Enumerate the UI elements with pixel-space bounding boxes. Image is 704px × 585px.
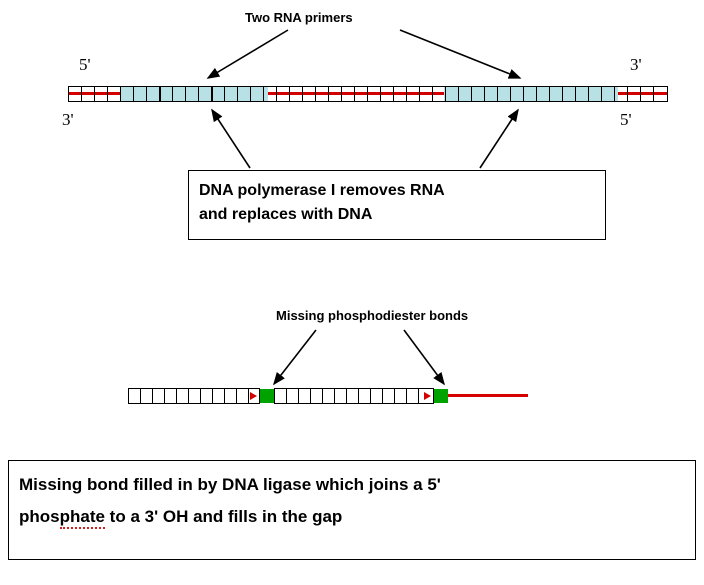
green-bond-gap-1 [260,389,274,403]
nucleotide-tick [382,388,383,404]
red-arrow-icon [424,392,431,400]
nucleotide-tick [276,86,277,102]
nucleotide-tick [302,86,303,102]
dna-polymerase-callout: DNA polymerase I removes RNA and replace… [188,170,606,240]
nucleotide-tick [418,388,419,404]
arrow-to-rna-primer-2 [400,30,520,78]
nucleotide-tick [367,86,368,102]
nucleotide-tick [164,388,165,404]
nucleotide-tick [140,388,141,404]
nucleotide-tick [185,86,186,102]
nucleotide-tick [549,86,550,102]
ligase-line-2-spellcheck: phate [60,507,105,529]
bottom-right-5prime-label: 5' [620,110,632,130]
nucleotide-tick [341,86,342,102]
nucleotide-tick [298,388,299,404]
nucleotide-tick [248,388,249,404]
nucleotide-tick [120,86,121,102]
nucleotide-tick [159,86,161,102]
nucleotide-tick [523,86,524,102]
nucleotide-tick [200,388,201,404]
nucleotide-tick [640,86,641,102]
bottom-left-3prime-label: 3' [62,110,74,130]
segment-red-dna-right [448,394,528,397]
nucleotide-tick [146,86,147,102]
strand-outline [68,86,668,102]
nucleotide-tick [380,86,381,102]
nucleotide-tick [432,86,433,102]
callout-line-2: and replaces with DNA [199,203,595,227]
ligase-line-2-prefix: phos [19,507,60,526]
segment-outline [128,388,260,404]
arrow-to-bond-gap-1 [274,330,316,384]
nucleotide-tick [328,86,329,102]
nucleotide-tick [188,388,189,404]
nucleotide-tick [176,388,177,404]
nucleotide-tick [263,86,264,102]
nucleotide-tick [310,388,311,404]
arrow-to-bond-gap-2 [404,330,444,384]
nucleotide-tick [224,86,225,102]
nucleotide-tick [588,86,589,102]
ligase-line-1: Missing bond filled in by DNA ligase whi… [19,469,685,501]
nucleotide-tick [286,388,287,404]
nucleotide-tick [224,388,225,404]
arrow-callout-to-primer-1 [212,110,250,168]
nucleotide-tick [212,388,213,404]
nucleotide-tick [237,86,238,102]
nucleotide-tick [653,86,654,102]
nucleotide-tick [406,388,407,404]
nucleotide-tick [370,388,371,404]
missing-bonds-label: Missing phosphodiester bonds [276,308,468,323]
nucleotide-tick [445,86,446,102]
nucleotide-tick [358,388,359,404]
nucleotide-tick [394,388,395,404]
nucleotide-tick [198,86,199,102]
nucleotide-tick [458,86,459,102]
nucleotide-tick [250,86,251,102]
nucleotide-tick [334,388,335,404]
bottom-dna-strand [128,388,528,404]
callout-line-1: DNA polymerase I removes RNA [199,179,595,203]
nucleotide-tick [346,388,347,404]
nucleotide-tick [406,86,407,102]
nucleotide-tick [484,86,485,102]
nucleotide-tick [172,86,173,102]
nucleotide-tick [81,86,82,102]
ligase-line-2: phosphate to a 3' OH and fills in the ga… [19,501,685,533]
nucleotide-tick [510,86,511,102]
nucleotide-tick [497,86,498,102]
nucleotide-tick [536,86,537,102]
nucleotide-tick [614,86,615,102]
nucleotide-tick [575,86,576,102]
nucleotide-tick [322,388,323,404]
arrow-to-rna-primer-1 [208,30,288,78]
nucleotide-tick [393,86,394,102]
nucleotide-tick [354,86,355,102]
dna-ligase-callout: Missing bond filled in by DNA ligase whi… [8,460,696,560]
top-left-5prime-label: 5' [79,55,91,75]
nucleotide-tick [133,86,134,102]
arrow-callout-to-primer-2 [480,110,518,168]
nucleotide-tick [107,86,108,102]
nucleotide-tick [152,388,153,404]
nucleotide-tick [211,86,213,102]
top-right-3prime-label: 3' [630,55,642,75]
nucleotide-tick [289,86,290,102]
nucleotide-tick [471,86,472,102]
nucleotide-tick [94,86,95,102]
green-bond-gap-2 [434,389,448,403]
top-dna-strand [68,86,668,102]
ligase-line-2-suffix: to a 3' OH and fills in the gap [105,507,342,526]
red-arrow-icon [250,392,257,400]
nucleotide-tick [236,388,237,404]
nucleotide-tick [627,86,628,102]
nucleotide-tick [419,86,420,102]
nucleotide-tick [562,86,563,102]
nucleotide-tick [315,86,316,102]
two-rna-primers-label: Two RNA primers [245,10,353,25]
nucleotide-tick [601,86,602,102]
diagram-canvas: Two RNA primers 5' 3' 3' 5' [0,0,704,585]
